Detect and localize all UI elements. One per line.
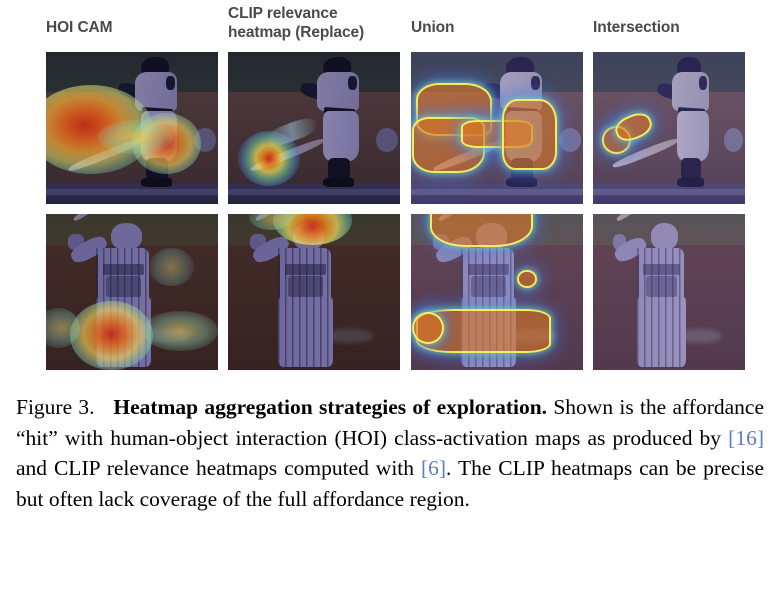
union-region-hips	[504, 101, 556, 168]
column-header-clip-relevance: CLIP relevance heatmap (Replace)	[228, 4, 364, 42]
union-region-legs-tail	[414, 314, 442, 342]
citation-6[interactable]: [6]	[421, 456, 446, 480]
panel-row2-union	[411, 214, 583, 370]
caption-body-2: and CLIP relevance heatmaps computed wit…	[16, 456, 421, 480]
figure-panel-grid: HOI CAM CLIP relevance heatmap (Replace)…	[0, 0, 779, 380]
column-header-hoi-cam: HOI CAM	[46, 18, 112, 37]
union-region-isolated-spot	[519, 272, 534, 286]
intersection-violet-veil	[593, 214, 745, 370]
caption-label: Figure 3.	[16, 395, 95, 419]
panel-row2-hoi-cam	[46, 214, 218, 370]
column-header-union: Union	[411, 18, 454, 37]
cam-violet-veil	[46, 214, 218, 370]
cam-violet-veil	[46, 52, 218, 204]
column-header-intersection: Intersection	[593, 18, 680, 37]
union-region-head-bat	[432, 214, 532, 245]
clip-violet-veil	[228, 52, 400, 204]
panel-row1-union	[411, 52, 583, 204]
clip-violet-veil	[228, 214, 400, 370]
panel-row2-intersection	[593, 214, 745, 370]
panel-row1-clip-relevance	[228, 52, 400, 204]
caption-title: Heatmap aggregation strategies of explor…	[113, 395, 547, 419]
panel-row1-hoi-cam	[46, 52, 218, 204]
panel-row1-intersection	[593, 52, 745, 204]
figure-caption: Figure 3. Heatmap aggregation strategies…	[16, 392, 764, 514]
panel-row2-clip-relevance	[228, 214, 400, 370]
citation-16[interactable]: [16]	[728, 426, 764, 450]
